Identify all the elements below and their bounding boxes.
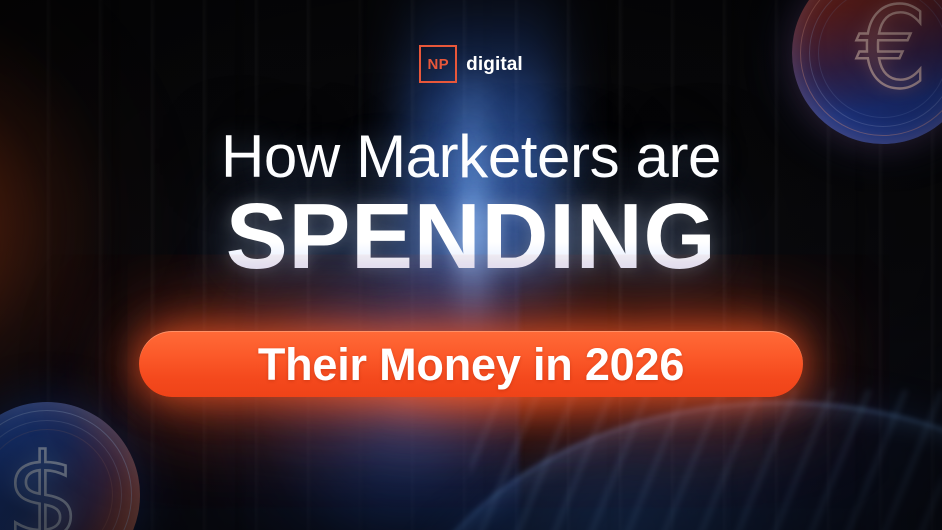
globe-rim-highlight (382, 402, 942, 530)
promo-banner: € $ NP digital How Marketers are SPENDIN… (0, 0, 942, 530)
subtitle-pill-label: Their Money in 2026 (258, 342, 684, 387)
headline-line-2: SPENDING (0, 190, 942, 283)
np-logo-mark: NP (428, 57, 449, 72)
np-digital-logo[interactable]: NP digital (0, 45, 942, 83)
np-logo-icon: NP (419, 45, 457, 83)
headline-line-1: How Marketers are (0, 126, 942, 188)
subtitle-pill: Their Money in 2026 (139, 331, 803, 397)
light-rays (470, 390, 942, 530)
globe-arc (380, 400, 942, 530)
dollar-symbol: $ (0, 404, 136, 530)
subtitle-pill-wrap: Their Money in 2026 (0, 331, 942, 397)
dollar-coin-icon: $ (0, 402, 140, 530)
logo-wordmark: digital (466, 55, 523, 74)
headline-block: How Marketers are SPENDING (0, 126, 942, 283)
